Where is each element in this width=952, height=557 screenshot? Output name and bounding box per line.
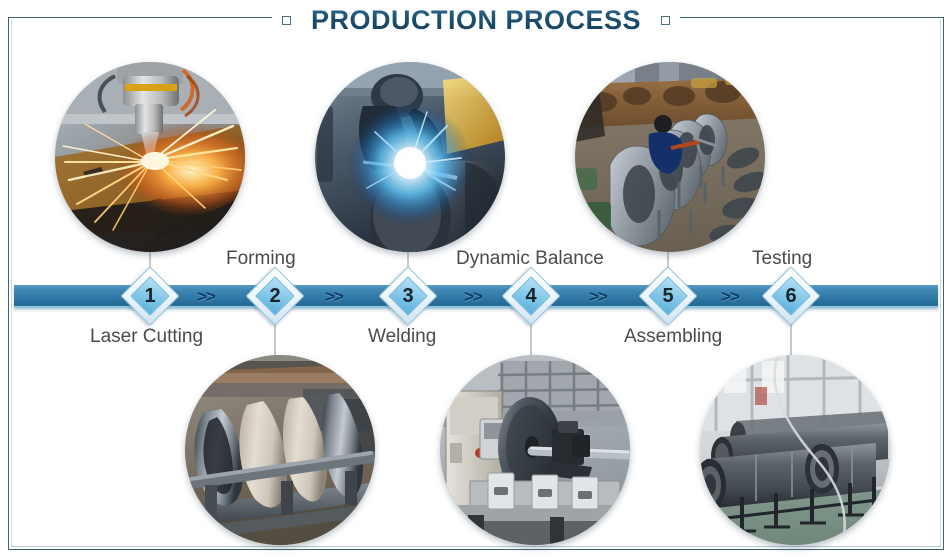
page-title-block: PRODUCTION PROCESS — [0, 0, 952, 40]
title-left-square-icon — [282, 16, 291, 25]
timeline-separator-4: >> — [589, 287, 607, 306]
step-number-6: 6 — [768, 273, 814, 319]
step-label-welding: Welding — [368, 326, 436, 348]
timeline-node-2[interactable]: 2 — [252, 273, 298, 319]
timeline-separator-5: >> — [721, 287, 739, 306]
production-process-infographic: PRODUCTION PROCESS >> >> >> >> >> 1 2 3 … — [0, 0, 952, 557]
title-right-square-icon — [661, 16, 670, 25]
step-label-assembling: Assembling — [624, 326, 722, 348]
timeline-node-3[interactable]: 3 — [385, 273, 431, 319]
forming-photo — [185, 355, 375, 545]
timeline-separator-3: >> — [464, 287, 482, 306]
step-number-4: 4 — [508, 273, 554, 319]
laser-cutting-photo — [55, 62, 245, 252]
timeline-node-4[interactable]: 4 — [508, 273, 554, 319]
timeline-node-5[interactable]: 5 — [645, 273, 691, 319]
timeline-separator-2: >> — [325, 287, 343, 306]
step-label-forming: Forming — [226, 248, 296, 270]
page-title: PRODUCTION PROCESS — [305, 5, 647, 36]
welding-photo — [315, 62, 505, 252]
testing-photo — [700, 355, 890, 545]
step-label-laser-cutting: Laser Cutting — [90, 326, 203, 348]
step-number-2: 2 — [252, 273, 298, 319]
step-number-3: 3 — [385, 273, 431, 319]
assembling-photo — [575, 62, 765, 252]
step-label-testing: Testing — [752, 248, 812, 270]
timeline-node-6[interactable]: 6 — [768, 273, 814, 319]
timeline-separator-1: >> — [197, 287, 215, 306]
dynamic-balance-photo — [440, 355, 630, 545]
step-number-5: 5 — [645, 273, 691, 319]
step-number-1: 1 — [127, 273, 173, 319]
timeline-node-1[interactable]: 1 — [127, 273, 173, 319]
